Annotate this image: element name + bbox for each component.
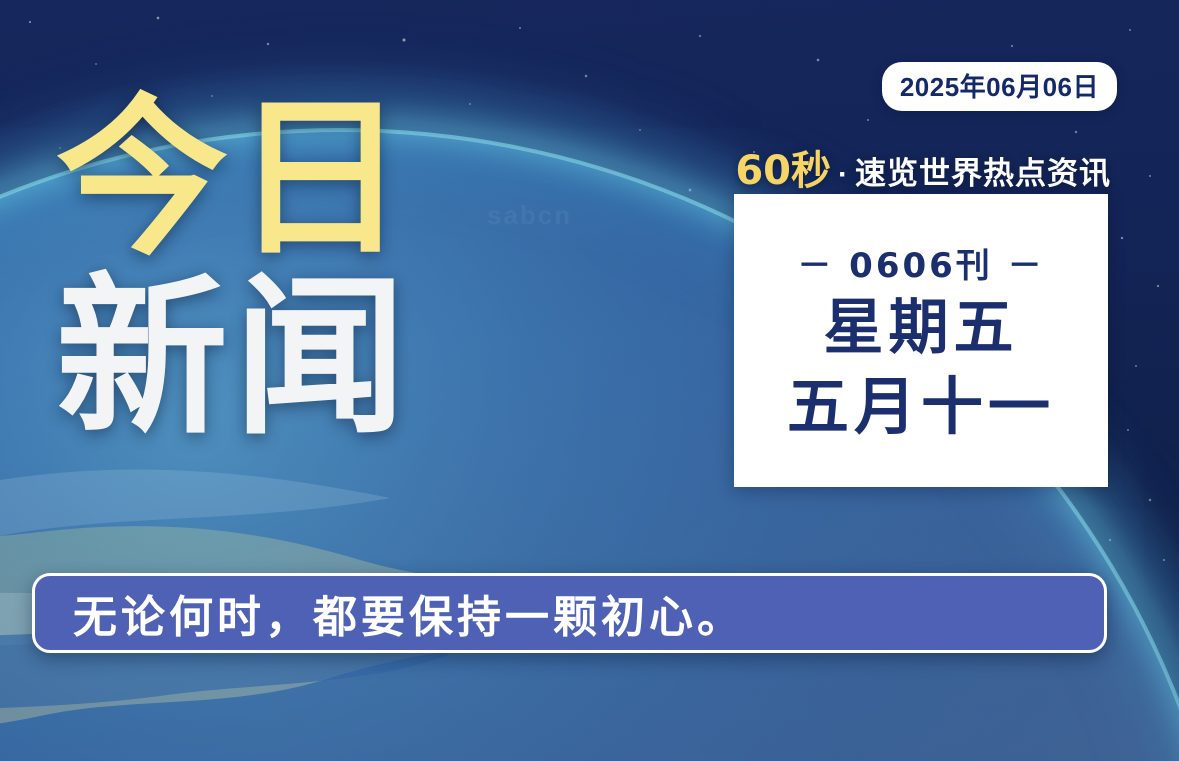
page-title: 今日 新闻 (56, 96, 412, 440)
tagline-seconds: 60秒 (735, 138, 831, 196)
date-badge: 2025年06月06日 (882, 62, 1117, 111)
news-poster: sabcn 今日 新闻 2025年06月06日 60秒 · 速览世界热点资讯 －… (0, 0, 1179, 761)
issue-number: － 0606刊 － (797, 238, 1044, 287)
watermark: sabcn (487, 200, 572, 231)
headline-line-2: 新闻 (56, 275, 412, 440)
headline-line-1: 今日 (56, 96, 412, 261)
tagline-separator: · (834, 158, 852, 192)
date-card: － 0606刊 － 星期五 五月十一 (734, 194, 1108, 487)
lunar-date-label: 五月十一 (787, 370, 1055, 444)
quote-banner: 无论何时，都要保持一颗初心。 (32, 573, 1107, 653)
weekday-label: 星期五 (824, 291, 1019, 366)
tagline: 60秒 · 速览世界热点资讯 (735, 138, 1111, 196)
quote-text: 无论何时，都要保持一颗初心。 (35, 581, 745, 645)
tagline-text: 速览世界热点资讯 (855, 148, 1111, 193)
